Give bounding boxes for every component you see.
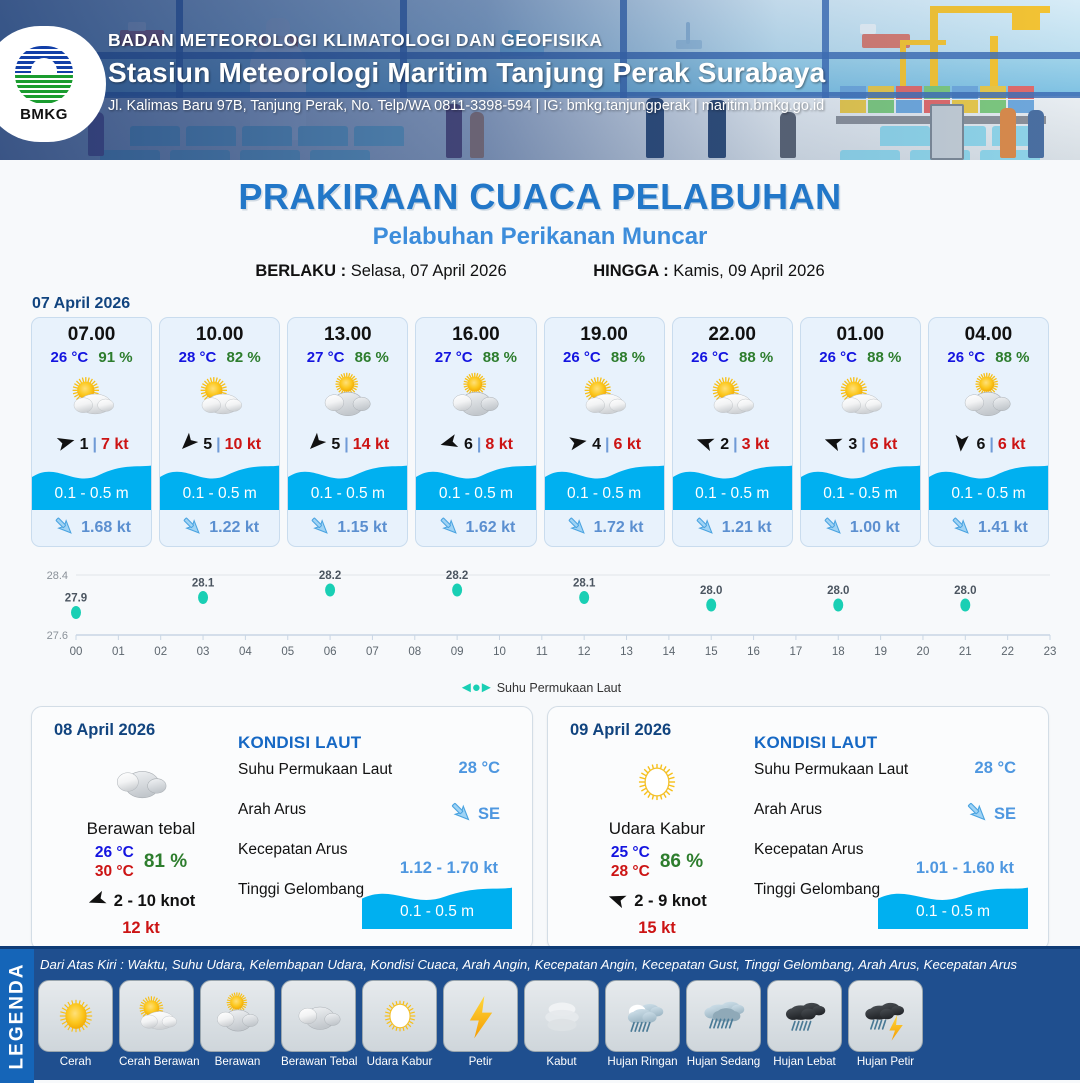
card-wind-dir-value: 3 <box>848 436 857 454</box>
card-temp-humidity: 27 °C 86 % <box>288 349 407 366</box>
card-current-row: 1.68 kt <box>32 510 151 546</box>
card-wind-row: 2 | 3 kt <box>673 432 792 458</box>
card-humidity: 88 % <box>867 349 901 366</box>
panel-temp-max: 30 °C <box>95 862 134 881</box>
card-current-speed: 1.62 kt <box>466 519 516 537</box>
panel-temp-humidity: 26 °C 30 °C 81 % <box>46 843 236 882</box>
forecast-card: 07.00 26 °C 91 % 1 | 7 kt <box>31 317 152 547</box>
panel-humidity: 86 % <box>660 851 703 873</box>
card-wave-block: 0.1 - 0.5 m <box>673 460 792 510</box>
card-wind-row: 6 | 6 kt <box>929 432 1048 458</box>
berawan-tebal-icon <box>281 980 356 1052</box>
svg-text:28.4: 28.4 <box>47 570 68 582</box>
svg-text:28.0: 28.0 <box>954 585 976 597</box>
card-wind-dir-value: 1 <box>80 436 89 454</box>
card-current-speed: 1.72 kt <box>594 519 644 537</box>
bmkg-logo-mark <box>15 46 73 104</box>
card-wave-block: 0.1 - 0.5 m <box>288 460 407 510</box>
contact-info: Jl. Kalimas Baru 97B, Tanjung Perak, No.… <box>108 98 825 114</box>
sea-label-wave: Tinggi Gelombang <box>238 881 364 899</box>
card-wind-speed: 10 kt <box>225 436 261 454</box>
card-temperature: 26 °C <box>947 349 985 366</box>
card-separator: | <box>605 436 609 454</box>
card-temp-humidity: 28 °C 82 % <box>160 349 279 366</box>
card-current-row: 1.41 kt <box>929 510 1048 546</box>
legend-item-label: Kabut <box>524 1055 599 1068</box>
svg-text:23: 23 <box>1044 646 1057 658</box>
svg-text:11: 11 <box>536 646 548 658</box>
valid-to-label: HINGGA : <box>593 262 668 280</box>
svg-text:28.0: 28.0 <box>827 585 849 597</box>
card-wind-dir-value: 6 <box>464 436 473 454</box>
svg-text:00: 00 <box>70 646 83 658</box>
wind-direction-arrow-icon <box>55 432 76 458</box>
card-time: 19.00 <box>545 324 664 346</box>
sea-row-sst: Suhu Permukaan Laut 28 °C <box>754 753 1034 793</box>
sea-label-current-dir: Arah Arus <box>238 801 306 819</box>
card-wind-dir-value: 4 <box>592 436 601 454</box>
panel-gust: 15 kt <box>562 919 752 938</box>
page-title: PRAKIRAAN CUACA PELABUHAN <box>0 176 1080 218</box>
forecast-card: 10.00 28 °C 82 % 5 | 10 kt <box>159 317 280 547</box>
current-direction-arrow-icon <box>949 514 973 543</box>
card-temp-humidity: 26 °C 88 % <box>929 349 1048 366</box>
legend-item: Petir <box>443 980 518 1068</box>
legend-item: Cerah <box>38 980 113 1068</box>
legend-item-label: Hujan Ringan <box>605 1055 680 1068</box>
card-temp-humidity: 26 °C 88 % <box>545 349 664 366</box>
legend-item-label: Berawan Tebal <box>281 1055 356 1068</box>
sea-value-current-dir: SE <box>448 799 500 830</box>
panel-date: 09 April 2026 <box>570 721 671 740</box>
svg-text:09: 09 <box>451 646 464 658</box>
card-current-speed: 1.22 kt <box>209 519 259 537</box>
sea-label-current-dir: Arah Arus <box>754 801 822 819</box>
panel-wave-block: 0.1 - 0.5 m <box>362 883 512 929</box>
legend-item: Berawan Tebal <box>281 980 356 1068</box>
current-direction-arrow-icon <box>308 514 332 543</box>
svg-text:12: 12 <box>578 646 591 658</box>
berawan-icon <box>416 368 535 430</box>
panel-wave-height: 0.1 - 0.5 m <box>362 903 512 921</box>
card-wave-height: 0.1 - 0.5 m <box>545 485 664 503</box>
legend-item: Hujan Ringan <box>605 980 680 1068</box>
card-temperature: 26 °C <box>819 349 857 366</box>
card-wave-height: 0.1 - 0.5 m <box>288 485 407 503</box>
petir-icon <box>443 980 518 1052</box>
chart-legend-label: Suhu Permukaan Laut <box>497 681 621 695</box>
card-current-speed: 1.15 kt <box>337 519 387 537</box>
chart-legend-marker-icon: ◄●► <box>459 679 492 696</box>
station-name: Stasiun Meteorologi Maritim Tanjung Pera… <box>108 57 825 89</box>
svg-text:08: 08 <box>408 646 421 658</box>
sea-row-current-dir: Arah Arus SE <box>238 793 518 833</box>
svg-text:13: 13 <box>620 646 633 658</box>
panel-wind-row: 2 - 10 knot <box>46 889 236 915</box>
legend-item-label: Cerah Berawan <box>119 1055 194 1068</box>
card-current-row: 1.15 kt <box>288 510 407 546</box>
hujan-ringan-icon <box>605 980 680 1052</box>
panel-wave-block: 0.1 - 0.5 m <box>878 883 1028 929</box>
card-current-speed: 1.00 kt <box>850 519 900 537</box>
card-wind-speed: 7 kt <box>101 436 129 454</box>
legend-item: Cerah Berawan <box>119 980 194 1068</box>
card-time: 04.00 <box>929 324 1048 346</box>
svg-text:22: 22 <box>1001 646 1014 658</box>
card-separator: | <box>861 436 865 454</box>
card-wind-dir-value: 5 <box>331 436 340 454</box>
panel-wind-row: 2 - 9 knot <box>562 889 752 915</box>
card-time: 10.00 <box>160 324 279 346</box>
card-wind-row: 5 | 10 kt <box>160 432 279 458</box>
legend-item: Hujan Petir <box>848 980 923 1068</box>
panel-weather-summary: Udara Kabur 25 °C 28 °C 86 % 2 - 9 knot … <box>562 751 752 938</box>
panel-wind-range: 2 - 9 knot <box>634 892 706 911</box>
card-time: 22.00 <box>673 324 792 346</box>
daily-panel: 09 April 2026 Udara Kabur 25 °C 28 °C 86… <box>547 706 1049 951</box>
card-wind-speed: 3 kt <box>742 436 770 454</box>
legend-item-label: Petir <box>443 1055 518 1068</box>
card-time: 16.00 <box>416 324 535 346</box>
svg-text:21: 21 <box>959 646 972 658</box>
svg-text:18: 18 <box>832 646 845 658</box>
daily-panels-row: 08 April 2026 Berawan tebal 26 °C 30 °C <box>0 706 1080 951</box>
current-direction-arrow-icon <box>180 514 204 543</box>
card-wind-row: 1 | 7 kt <box>32 432 151 458</box>
card-humidity: 88 % <box>739 349 773 366</box>
card-separator: | <box>733 436 737 454</box>
svg-text:03: 03 <box>197 646 210 658</box>
card-wave-block: 0.1 - 0.5 m <box>32 460 151 510</box>
card-time: 13.00 <box>288 324 407 346</box>
forecast-card: 04.00 26 °C 88 % 6 | 6 kt <box>928 317 1049 547</box>
card-wave-height: 0.1 - 0.5 m <box>929 485 1048 503</box>
legend-item: Udara Kabur <box>362 980 437 1068</box>
sea-label-current-speed: Kecepatan Arus <box>754 841 863 859</box>
sea-row-sst: Suhu Permukaan Laut 28 °C <box>238 753 518 793</box>
card-wind-row: 4 | 6 kt <box>545 432 664 458</box>
card-wave-height: 0.1 - 0.5 m <box>416 485 535 503</box>
forecast-card: 16.00 27 °C 88 % 6 | 8 kt <box>415 317 536 547</box>
berawan-icon <box>929 368 1048 430</box>
svg-text:06: 06 <box>324 646 337 658</box>
svg-text:28.2: 28.2 <box>446 570 468 582</box>
card-current-speed: 1.68 kt <box>81 519 131 537</box>
panel-sea-conditions: KONDISI LAUT Suhu Permukaan Laut 28 °C A… <box>754 733 1034 913</box>
card-temperature: 27 °C <box>435 349 473 366</box>
legend-item: Kabut <box>524 980 599 1068</box>
valid-from-value: Selasa, 07 April 2026 <box>351 262 507 280</box>
svg-text:01: 01 <box>112 646 125 658</box>
panel-temp-min: 25 °C <box>611 843 650 862</box>
daily-panel: 08 April 2026 Berawan tebal 26 °C 30 °C <box>31 706 533 951</box>
legend-item-label: Udara Kabur <box>362 1055 437 1068</box>
svg-text:10: 10 <box>493 646 506 658</box>
card-humidity: 86 % <box>355 349 389 366</box>
panel-wind-range: 2 - 10 knot <box>114 892 196 911</box>
card-wave-height: 0.1 - 0.5 m <box>673 485 792 503</box>
panel-temp-humidity: 25 °C 28 °C 86 % <box>562 843 752 882</box>
card-wave-block: 0.1 - 0.5 m <box>801 460 920 510</box>
card-humidity: 88 % <box>611 349 645 366</box>
current-direction-arrow-icon <box>693 514 717 543</box>
svg-text:28.1: 28.1 <box>573 578 596 590</box>
wind-direction-arrow-icon <box>439 432 460 458</box>
header-text-block: BADAN METEOROLOGI KLIMATOLOGI DAN GEOFIS… <box>108 30 825 114</box>
sea-label-sst: Suhu Permukaan Laut <box>754 761 908 779</box>
card-wind-row: 5 | 14 kt <box>288 432 407 458</box>
legend-item-label: Berawan <box>200 1055 275 1068</box>
udara-kabur-icon <box>562 751 752 813</box>
card-current-row: 1.62 kt <box>416 510 535 546</box>
card-time: 07.00 <box>32 324 151 346</box>
cerah-berawan-icon <box>801 368 920 430</box>
card-wave-block: 0.1 - 0.5 m <box>416 460 535 510</box>
wind-direction-arrow-icon <box>567 432 588 458</box>
card-temperature: 26 °C <box>51 349 89 366</box>
sea-label-sst: Suhu Permukaan Laut <box>238 761 392 779</box>
svg-text:04: 04 <box>239 646 252 658</box>
card-humidity: 88 % <box>995 349 1029 366</box>
card-wind-speed: 8 kt <box>485 436 513 454</box>
legend-item: Hujan Sedang <box>686 980 761 1068</box>
cerah-berawan-icon <box>673 368 792 430</box>
card-wind-speed: 6 kt <box>870 436 898 454</box>
panel-temp-min: 26 °C <box>95 843 134 862</box>
panel-temp-max: 28 °C <box>611 862 650 881</box>
wind-direction-arrow-icon <box>695 432 716 458</box>
udara-kabur-icon <box>362 980 437 1052</box>
wind-direction-arrow-icon <box>607 889 628 915</box>
valid-from-group: BERLAKU : Selasa, 07 April 2026 <box>255 262 506 281</box>
panel-temp-range: 26 °C 30 °C <box>95 843 134 882</box>
card-wind-speed: 6 kt <box>613 436 641 454</box>
svg-text:15: 15 <box>705 646 718 658</box>
panel-condition: Udara Kabur <box>562 819 752 839</box>
hujan-petir-icon <box>848 980 923 1052</box>
card-separator: | <box>92 436 96 454</box>
svg-text:17: 17 <box>790 646 803 658</box>
panel-sea-title: KONDISI LAUT <box>754 733 1034 753</box>
hujan-lebat-icon <box>767 980 842 1052</box>
panel-humidity: 81 % <box>144 851 187 873</box>
legend-item-label: Cerah <box>38 1055 113 1068</box>
legend-items-row: Cerah Cerah Berawan <box>38 980 1076 1068</box>
legend-side-text: LEGENDA <box>6 963 28 1070</box>
forecast-card: 01.00 26 °C 88 % 3 | 6 kt <box>800 317 921 547</box>
svg-text:05: 05 <box>281 646 294 658</box>
cerah-berawan-icon <box>32 368 151 430</box>
hourly-forecast-row: 07.00 26 °C 91 % 1 | 7 kt <box>0 317 1080 547</box>
current-direction-arrow-icon <box>565 514 589 543</box>
card-temp-humidity: 26 °C 88 % <box>801 349 920 366</box>
page-header: BMKG BADAN METEOROLOGI KLIMATOLOGI DAN G… <box>0 0 1080 160</box>
current-direction-arrow-icon <box>52 514 76 543</box>
sea-row-current-speed: Kecepatan Arus 1.01 - 1.60 kt <box>754 833 1034 873</box>
card-wave-block: 0.1 - 0.5 m <box>545 460 664 510</box>
card-separator: | <box>344 436 348 454</box>
legend-note: Dari Atas Kiri : Waktu, Suhu Udara, Kele… <box>40 957 1074 972</box>
sea-label-wave: Tinggi Gelombang <box>754 881 880 899</box>
sea-value-current-dir: SE <box>964 799 1016 830</box>
panel-date: 08 April 2026 <box>54 721 155 740</box>
legend-item-label: Hujan Petir <box>848 1055 923 1068</box>
legend-bar: LEGENDA Dari Atas Kiri : Waktu, Suhu Uda… <box>0 946 1080 1080</box>
valid-to-value: Kamis, 09 April 2026 <box>673 262 824 280</box>
wind-direction-arrow-icon <box>823 432 844 458</box>
card-wave-height: 0.1 - 0.5 m <box>32 485 151 503</box>
sea-row-current-dir: Arah Arus SE <box>754 793 1034 833</box>
card-separator: | <box>216 436 220 454</box>
card-temperature: 26 °C <box>691 349 729 366</box>
card-temperature: 27 °C <box>307 349 345 366</box>
current-direction-arrow-icon <box>964 799 990 830</box>
sea-row-current-speed: Kecepatan Arus 1.12 - 1.70 kt <box>238 833 518 873</box>
svg-text:28.1: 28.1 <box>192 578 215 590</box>
card-separator: | <box>989 436 993 454</box>
panel-gust: 12 kt <box>46 919 236 938</box>
berawan-icon <box>288 368 407 430</box>
wind-direction-arrow-icon <box>306 432 327 458</box>
card-wind-row: 3 | 6 kt <box>801 432 920 458</box>
forecast-card: 22.00 26 °C 88 % 2 | 3 kt <box>672 317 793 547</box>
card-wind-dir-value: 2 <box>720 436 729 454</box>
card-wave-block: 0.1 - 0.5 m <box>929 460 1048 510</box>
svg-text:27.6: 27.6 <box>47 630 68 642</box>
sea-label-current-speed: Kecepatan Arus <box>238 841 347 859</box>
valid-to-group: HINGGA : Kamis, 09 April 2026 <box>593 262 824 281</box>
card-wind-speed: 6 kt <box>998 436 1026 454</box>
sea-current-dir-text: SE <box>478 805 500 824</box>
card-current-speed: 1.41 kt <box>978 519 1028 537</box>
sea-current-dir-text: SE <box>994 805 1016 824</box>
valid-from-label: BERLAKU : <box>255 262 346 280</box>
card-humidity: 88 % <box>483 349 517 366</box>
berawan-tebal-icon <box>46 751 236 813</box>
legend-item-label: Hujan Sedang <box>686 1055 761 1068</box>
kabut-icon <box>524 980 599 1052</box>
legend-side-label: LEGENDA <box>0 949 34 1083</box>
card-temperature: 26 °C <box>563 349 601 366</box>
current-direction-arrow-icon <box>448 799 474 830</box>
cerah-icon <box>38 980 113 1052</box>
svg-text:14: 14 <box>662 646 675 658</box>
title-block: PRAKIRAAN CUACA PELABUHAN Pelabuhan Peri… <box>0 176 1080 281</box>
legend-item: Hujan Lebat <box>767 980 842 1068</box>
wind-direction-arrow-icon <box>87 889 108 915</box>
chart-legend: ◄●► Suhu Permukaan Laut <box>0 679 1080 696</box>
hujan-sedang-icon <box>686 980 761 1052</box>
card-time: 01.00 <box>801 324 920 346</box>
forecast-card: 19.00 26 °C 88 % 4 | 6 kt <box>544 317 665 547</box>
card-wave-height: 0.1 - 0.5 m <box>160 485 279 503</box>
current-direction-arrow-icon <box>437 514 461 543</box>
page-subtitle: Pelabuhan Perikanan Muncar <box>0 223 1080 251</box>
wind-direction-arrow-icon <box>951 432 972 458</box>
card-current-row: 1.00 kt <box>801 510 920 546</box>
card-wind-dir-value: 6 <box>976 436 985 454</box>
sea-value-sst: 28 °C <box>459 759 500 778</box>
agency-name: BADAN METEOROLOGI KLIMATOLOGI DAN GEOFIS… <box>108 30 825 51</box>
card-wave-height: 0.1 - 0.5 m <box>801 485 920 503</box>
svg-text:28.2: 28.2 <box>319 570 341 582</box>
svg-text:16: 16 <box>747 646 760 658</box>
card-temp-humidity: 26 °C 88 % <box>673 349 792 366</box>
panel-wave-height: 0.1 - 0.5 m <box>878 903 1028 921</box>
card-temp-humidity: 27 °C 88 % <box>416 349 535 366</box>
card-wind-speed: 14 kt <box>353 436 389 454</box>
card-current-row: 1.72 kt <box>545 510 664 546</box>
panel-weather-summary: Berawan tebal 26 °C 30 °C 81 % 2 - 10 kn… <box>46 751 236 938</box>
card-humidity: 82 % <box>227 349 261 366</box>
panel-sea-conditions: KONDISI LAUT Suhu Permukaan Laut 28 °C A… <box>238 733 518 913</box>
svg-text:20: 20 <box>917 646 930 658</box>
panel-temp-range: 25 °C 28 °C <box>611 843 650 882</box>
berawan-icon <box>200 980 275 1052</box>
cerah-berawan-icon <box>160 368 279 430</box>
svg-text:27.9: 27.9 <box>65 593 87 605</box>
card-temperature: 28 °C <box>179 349 217 366</box>
card-wave-block: 0.1 - 0.5 m <box>160 460 279 510</box>
sst-chart: 28.427.600010203040506070809101112131415… <box>22 557 1058 677</box>
card-wind-row: 6 | 8 kt <box>416 432 535 458</box>
validity-row: BERLAKU : Selasa, 07 April 2026 HINGGA :… <box>0 262 1080 281</box>
svg-text:28.0: 28.0 <box>700 585 722 597</box>
bmkg-logo-text: BMKG <box>20 106 68 123</box>
svg-text:02: 02 <box>154 646 167 658</box>
cerah-berawan-icon <box>119 980 194 1052</box>
sea-value-sst: 28 °C <box>975 759 1016 778</box>
card-wind-dir-value: 5 <box>203 436 212 454</box>
legend-item: Berawan <box>200 980 275 1068</box>
cerah-berawan-icon <box>545 368 664 430</box>
forecast-day-label: 07 April 2026 <box>32 295 1080 313</box>
panel-sea-title: KONDISI LAUT <box>238 733 518 753</box>
card-humidity: 91 % <box>98 349 132 366</box>
card-temp-humidity: 26 °C 91 % <box>32 349 151 366</box>
card-current-row: 1.22 kt <box>160 510 279 546</box>
svg-text:19: 19 <box>874 646 887 658</box>
legend-item-label: Hujan Lebat <box>767 1055 842 1068</box>
svg-text:07: 07 <box>366 646 379 658</box>
wind-direction-arrow-icon <box>178 432 199 458</box>
card-separator: | <box>477 436 481 454</box>
panel-condition: Berawan tebal <box>46 819 236 839</box>
card-current-row: 1.21 kt <box>673 510 792 546</box>
forecast-card: 13.00 27 °C 86 % 5 | 14 kt <box>287 317 408 547</box>
current-direction-arrow-icon <box>821 514 845 543</box>
card-current-speed: 1.21 kt <box>722 519 772 537</box>
